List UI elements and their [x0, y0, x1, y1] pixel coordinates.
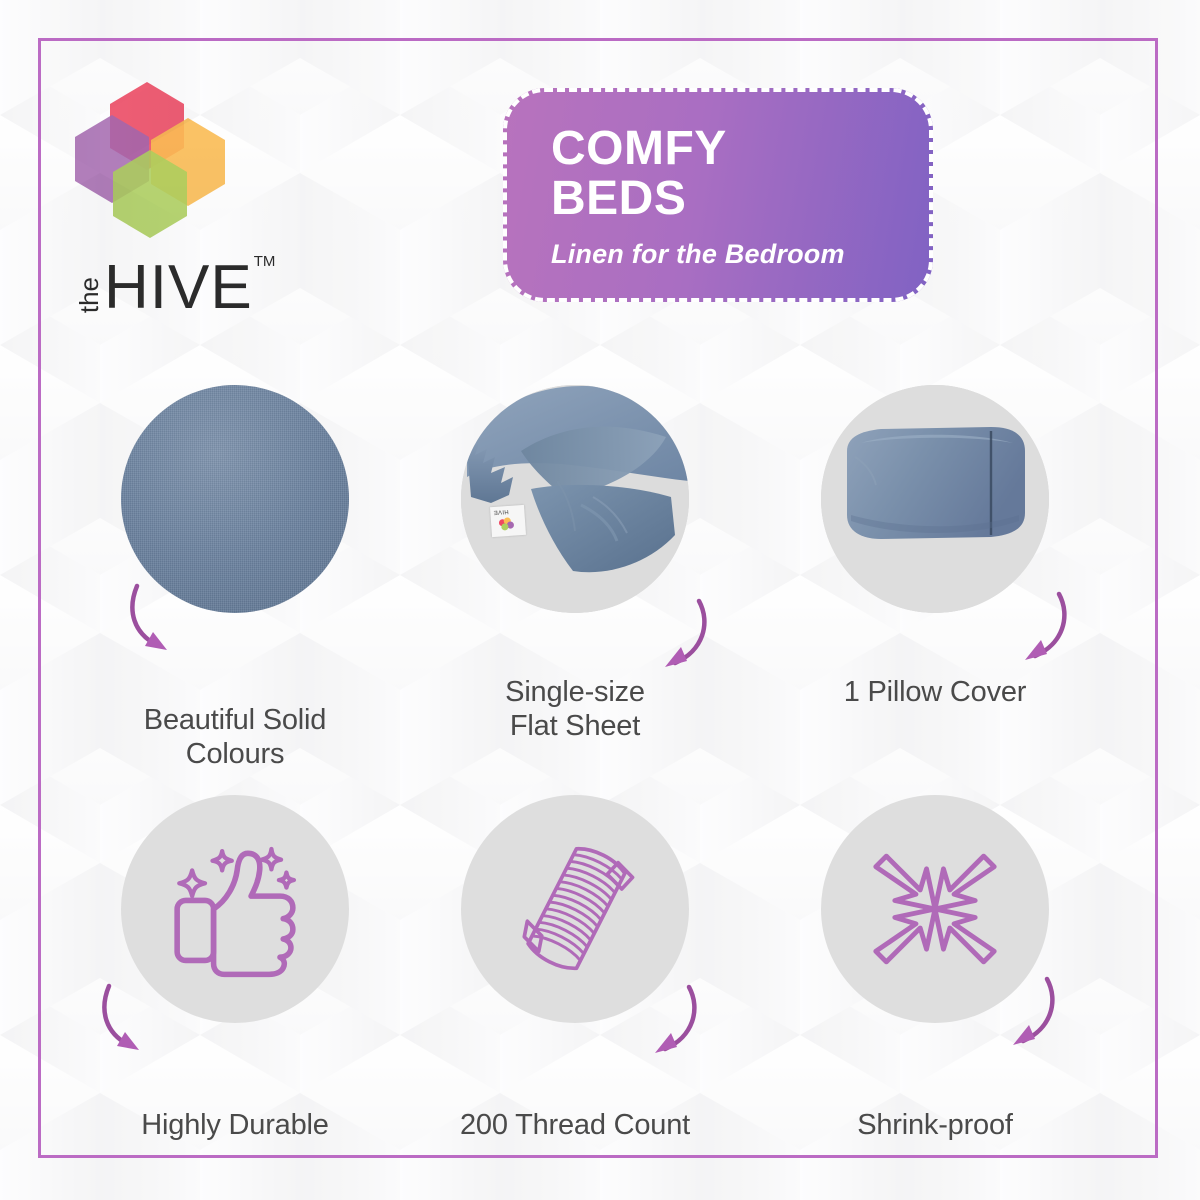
caption-line-1: Shrink-proof [765, 1108, 1105, 1142]
brand-logo: the HIVE TM [72, 80, 302, 310]
curved-arrow-down-left-icon [981, 975, 1071, 1065]
feature-beautiful-solid-colours: Beautiful Solid Colours [65, 385, 405, 771]
brand-care-label: HIVE [490, 505, 526, 537]
feature-highly-durable: Highly Durable [65, 795, 405, 1142]
thread-spool-icon [499, 833, 651, 985]
logo-hive-text: HIVE [104, 263, 253, 314]
pillow-illustration [821, 385, 1049, 613]
banner-title-line-1: COMFY [551, 124, 909, 174]
pillow-cover-image [821, 385, 1049, 613]
feature-thread-count: 200 Thread Count [405, 795, 745, 1142]
curved-arrow-down-left-icon [993, 590, 1083, 680]
curved-arrow-down-left-icon [633, 597, 723, 687]
caption-line-1: 1 Pillow Cover [765, 675, 1105, 709]
hive-hexagon-mark-icon [72, 80, 272, 255]
caption-line-1: Highly Durable [65, 1108, 405, 1142]
headline-banner: COMFY BEDS Linen for the Bedroom [503, 88, 933, 302]
label-hive-dots-icon [496, 516, 521, 533]
curved-arrow-down-right-icon [123, 580, 213, 670]
caption-line-1: Beautiful Solid [65, 703, 405, 737]
curved-arrow-down-right-icon [95, 980, 185, 1070]
folded-sheet-illustration [461, 385, 689, 613]
feature-caption: Shrink-proof [765, 1108, 1105, 1142]
feature-caption: Highly Durable [65, 1108, 405, 1142]
feature-pillow-cover: 1 Pillow Cover [765, 385, 1105, 709]
fabric-swatch-image [121, 385, 349, 613]
logo-the-text: the [76, 277, 102, 313]
caption-line-1: 200 Thread Count [405, 1108, 745, 1142]
banner-subtitle: Linen for the Bedroom [551, 239, 909, 270]
banner-title-line-2: BEDS [551, 174, 909, 224]
thumbs-up-icon [160, 834, 310, 984]
feature-caption: Beautiful Solid Colours [65, 703, 405, 771]
feature-shrink-proof: Shrink-proof [765, 795, 1105, 1142]
feature-caption: 1 Pillow Cover [765, 675, 1105, 709]
flat-sheet-image: HIVE [461, 385, 689, 613]
caption-line-2: Flat Sheet [405, 709, 745, 743]
feature-single-size-flat-sheet: HIVE Single-size Flat Sheet [405, 385, 745, 743]
curved-arrow-down-left-icon [623, 983, 713, 1073]
brand-wordmark: the HIVE TM [76, 252, 275, 314]
caption-line-2: Colours [65, 737, 405, 771]
feature-caption: 200 Thread Count [405, 1108, 745, 1142]
logo-trademark-symbol: TM [254, 254, 276, 269]
label-brand-text: HIVE [493, 508, 509, 515]
shrink-arrows-icon [861, 835, 1009, 983]
infographic-page: the HIVE TM COMFY BEDS Linen for the Bed… [0, 0, 1200, 1200]
